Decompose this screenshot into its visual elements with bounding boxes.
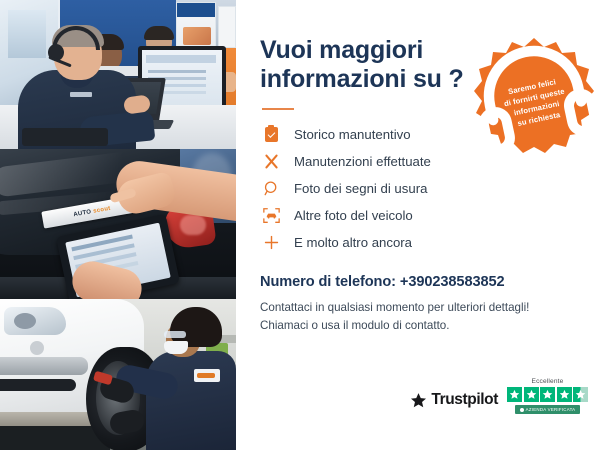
trustpilot-badge[interactable]: Trustpilot Eccellente AZIENDA VERIFICATA	[410, 378, 588, 414]
feature-label: Foto dei segni di usura	[294, 181, 427, 196]
clipboard-check-icon	[260, 127, 282, 142]
star-3	[540, 387, 555, 402]
trustpilot-rating-label: Eccellente	[532, 378, 564, 385]
content-panel: Vuoi maggiori informazioni su ? Saremo f…	[236, 0, 600, 450]
page-title: Vuoi maggiori informazioni su ?	[260, 36, 475, 95]
feature-item-altre-foto-veicolo: Altre foto del veicolo	[260, 203, 578, 229]
support-promise-badge: Saremo felici di fornirti queste informa…	[474, 36, 594, 156]
phone-label: Numero di telefono:	[260, 274, 396, 290]
title-divider	[262, 108, 294, 110]
phone-line: Numero di telefono: +390238583852	[260, 274, 578, 290]
contact-subtext-line-1: Contattaci in qualsiasi momento per ulte…	[260, 301, 529, 314]
trustpilot-stars	[507, 387, 588, 402]
contact-subtext-line-2: Chiamaci o usa il modulo di contatto.	[260, 319, 449, 332]
mechanic-wheel-inspection-photo	[0, 299, 236, 450]
feature-item-foto-segni-usura: Foto dei segni di usura	[260, 176, 578, 202]
contact-block: Numero di telefono: +390238583852 Contat…	[260, 274, 578, 336]
feature-label: Manutenzioni effettuate	[294, 154, 431, 169]
headset-icon	[463, 25, 600, 167]
verified-check-icon	[520, 408, 524, 412]
crossed-tools-icon	[260, 153, 282, 170]
vehicle-bumper-inspection-photo: AUTOscout	[0, 149, 236, 299]
feature-label: E molto altro ancora	[294, 235, 412, 250]
verified-company-badge: AZIENDA VERIFICATA	[515, 405, 581, 414]
feature-label: Storico manutentivo	[294, 127, 411, 142]
page-title-line-1: Vuoi maggiori	[260, 36, 423, 64]
trustpilot-star-icon	[410, 392, 427, 409]
promo-card: AUTOscout	[0, 0, 600, 450]
star-5	[573, 387, 588, 402]
verified-label: AZIENDA VERIFICATA	[526, 407, 576, 412]
trustpilot-wordmark: Trustpilot	[431, 391, 498, 409]
photo-column: AUTOscout	[0, 0, 236, 450]
star-1	[507, 387, 522, 402]
phone-number[interactable]: +390238583852	[400, 274, 505, 290]
star-2	[524, 387, 539, 402]
plus-icon	[260, 234, 282, 251]
call-center-agents-photo	[0, 0, 236, 149]
feature-item-molto-altro: E molto altro ancora	[260, 230, 578, 256]
magnifier-icon	[260, 180, 282, 197]
page-title-line-2: informazioni su ?	[260, 65, 464, 93]
contact-subtext: Contattaci in qualsiasi momento per ulte…	[260, 299, 578, 336]
car-frame-icon	[260, 207, 282, 224]
star-4	[557, 387, 572, 402]
feature-label: Altre foto del veicolo	[294, 208, 413, 223]
